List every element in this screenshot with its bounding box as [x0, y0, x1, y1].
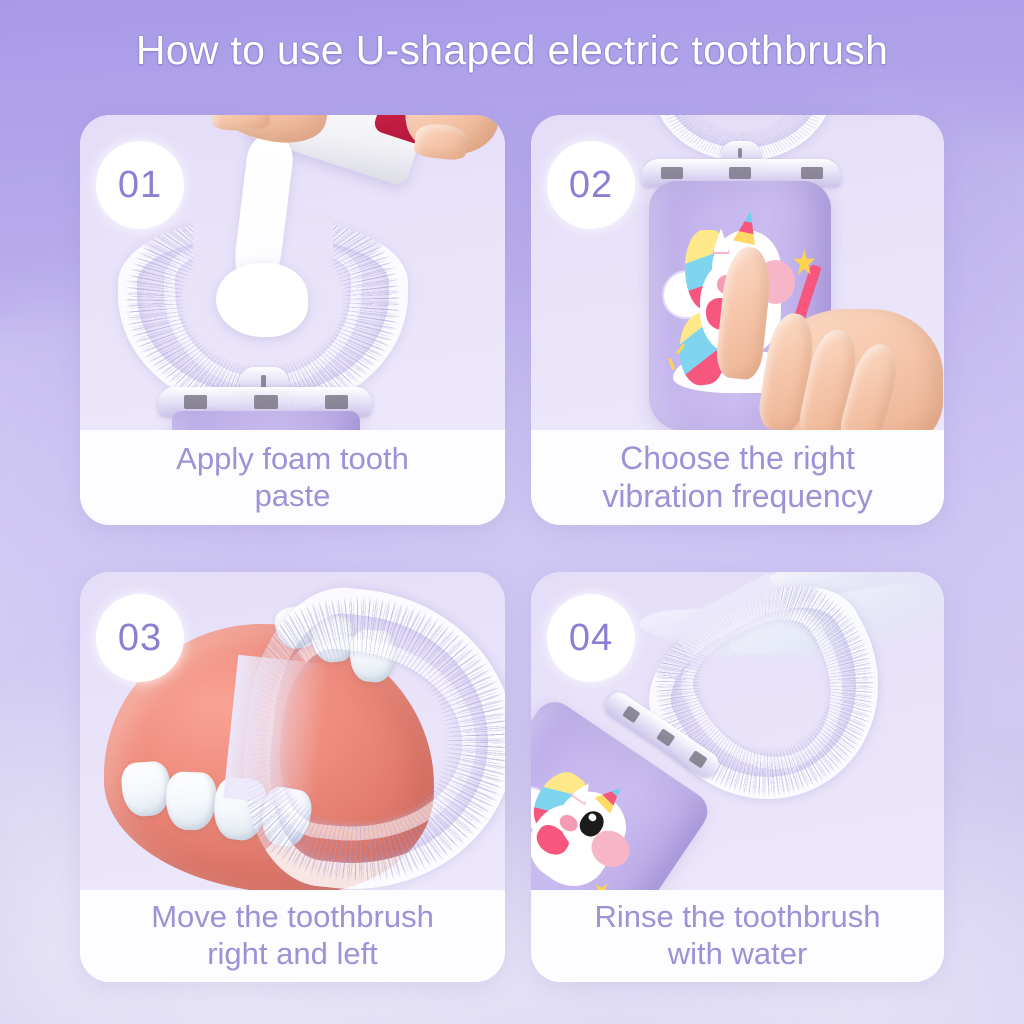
- steps-grid: Apply foam tooth paste 01: [0, 0, 1024, 1024]
- step-number-badge-02: 02: [547, 141, 635, 229]
- step-number-badge-04: 04: [547, 594, 635, 682]
- step-04-caption-line-1: Rinse the toothbrush: [594, 899, 880, 934]
- step-04-caption: Rinse the toothbrush with water: [531, 890, 944, 982]
- u-shaped-brush-head-icon: [231, 579, 505, 890]
- step-03-caption: Move the toothbrush right and left: [80, 890, 505, 982]
- infographic-root: How to use U-shaped electric toothbrush: [0, 0, 1024, 1024]
- step-02-caption-line-2: vibration frequency: [602, 478, 872, 514]
- step-card-04[interactable]: Rinse the toothbrush with water 04: [531, 572, 944, 982]
- step-number-badge-01: 01: [96, 141, 184, 229]
- step-number-badge-03: 03: [96, 594, 184, 682]
- hand-pressing-button: [711, 247, 941, 430]
- toothbrush-handle-base: [172, 411, 360, 430]
- step-02-caption-line-1: Choose the right: [620, 440, 855, 476]
- step-03-caption-line-1: Move the toothbrush: [151, 899, 434, 934]
- step-01-caption-line-1: Apply foam tooth: [176, 441, 409, 476]
- step-card-03[interactable]: Move the toothbrush right and left 03: [80, 572, 505, 982]
- step-03-caption-line-2: right and left: [207, 936, 378, 971]
- step-01-caption-line-2: paste: [255, 478, 331, 513]
- foam-blob: [216, 263, 308, 337]
- step-04-caption-line-2: with water: [668, 936, 808, 971]
- step-card-01[interactable]: Apply foam tooth paste 01: [80, 115, 505, 525]
- step-02-caption: Choose the right vibration frequency: [531, 430, 944, 525]
- hand-fingers-right: [390, 115, 505, 174]
- step-01-caption: Apply foam tooth paste: [80, 430, 505, 525]
- step-card-02[interactable]: Choose the right vibration frequency 02: [531, 115, 944, 525]
